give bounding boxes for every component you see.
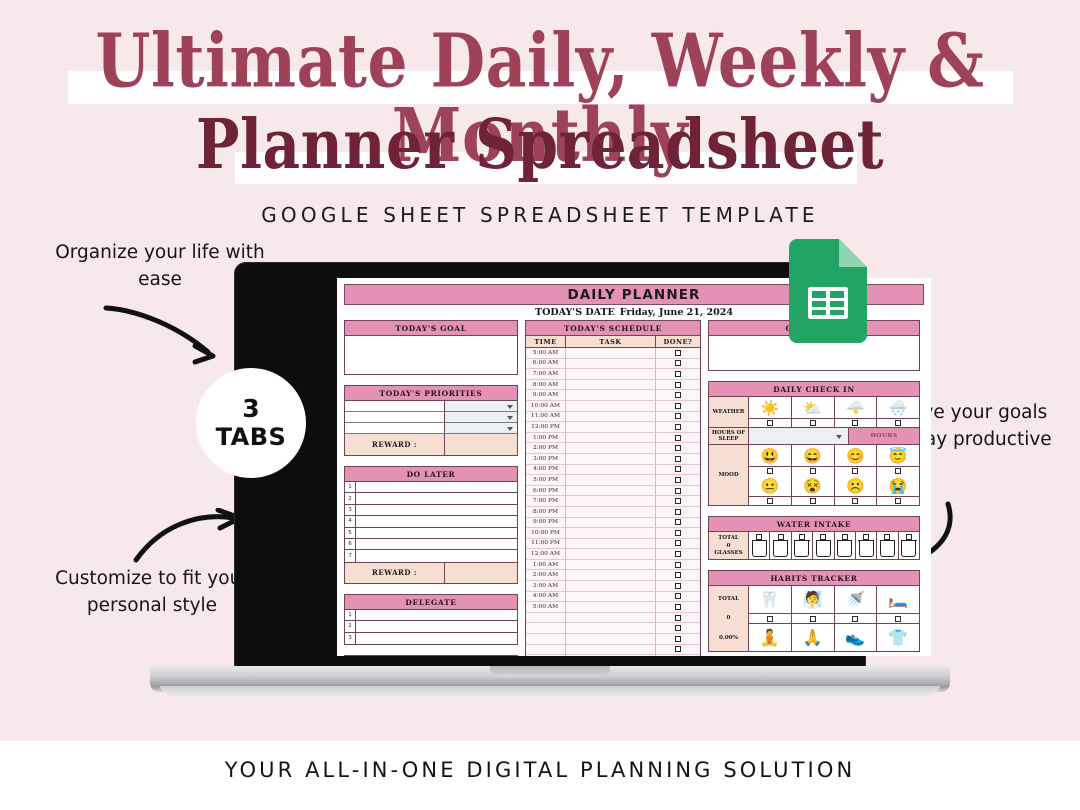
row-input[interactable] <box>356 528 517 538</box>
checkbox[interactable] <box>675 615 681 621</box>
table-row[interactable]: 1 <box>345 482 517 493</box>
laundry-icon: 👕 <box>888 628 908 647</box>
glass-icon <box>880 541 895 557</box>
checkbox[interactable] <box>810 468 816 474</box>
weather-label: WEATHER <box>709 397 749 427</box>
schedule-time: 2:00 PM <box>526 443 566 453</box>
schedule-time: 5:00 PM <box>526 475 566 485</box>
schedule-task-input[interactable] <box>566 613 656 623</box>
priority-dropdown[interactable] <box>445 412 517 422</box>
neutral-face-icon: 😐 <box>749 475 791 496</box>
row-input[interactable] <box>356 493 517 503</box>
schedule-task-input[interactable] <box>566 528 656 538</box>
water-total-caption: TOTAL <box>718 535 738 541</box>
habit-checkbox-wrap[interactable] <box>792 614 835 623</box>
schedule-task-input[interactable] <box>566 634 656 644</box>
mood-checkbox-wrap[interactable] <box>749 496 791 505</box>
habit-icon-cell[interactable]: 🙏 <box>792 624 835 651</box>
schedule-task-input[interactable] <box>566 549 656 559</box>
mood-checkbox-wrap[interactable] <box>792 496 834 505</box>
skincare-icon: 🧖 <box>803 590 823 609</box>
habits-total-label: TOTAL 0 0.00% <box>709 586 749 651</box>
card-title-todays-schedule: TODAY'S SCHEDULE <box>526 321 700 336</box>
card-title-habits-tracker: HABITS TRACKER <box>709 571 919 586</box>
weather-option[interactable]: 🌨️ <box>877 397 919 427</box>
schedule-row[interactable]: 5:00 AM <box>526 348 700 359</box>
schedule-row[interactable]: 7:00 PM <box>526 496 700 507</box>
prayer-icon: 🙏 <box>803 628 823 647</box>
schedule-header-row: TIME TASK DONE? <box>526 336 700 348</box>
schedule-task-input[interactable] <box>566 486 656 496</box>
checkbox[interactable] <box>767 420 773 426</box>
schedule-task-input[interactable] <box>566 581 656 591</box>
water-total-label: TOTAL 0 GLASSES <box>709 532 749 559</box>
schedule-done-cell[interactable] <box>656 369 700 379</box>
shoe-icon: 👟 <box>845 628 865 647</box>
checkbox[interactable] <box>675 509 681 515</box>
priority-row[interactable] <box>345 401 517 412</box>
water-total-value: 0 <box>727 543 731 549</box>
footer-tagline: YOUR ALL-IN-ONE DIGITAL PLANNING SOLUTIO… <box>0 758 1080 782</box>
priority-text-cell[interactable] <box>345 412 445 422</box>
schedule-done-cell[interactable] <box>656 518 700 528</box>
habit-icon-cell[interactable]: 🧖 <box>792 586 835 613</box>
row-number: 3 <box>345 633 356 644</box>
water-glass-cell[interactable] <box>856 532 877 559</box>
schedule-task-input[interactable] <box>566 518 656 528</box>
schedule-row[interactable] <box>526 634 700 645</box>
row-number: 2 <box>345 493 356 503</box>
habit-icon-cell[interactable]: 👟 <box>835 624 878 651</box>
table-row[interactable]: 3 <box>345 505 517 516</box>
reward-input[interactable] <box>445 434 517 455</box>
crying-face-icon: 😭 <box>877 475 919 496</box>
schedule-row[interactable]: 6:00 AM <box>526 359 700 370</box>
schedule-row[interactable]: 11:00 PM <box>526 539 700 550</box>
row-number: 6 <box>345 539 356 549</box>
mood-option[interactable]: 😄 <box>792 445 835 475</box>
checkbox[interactable] <box>675 551 681 557</box>
mood-option[interactable]: 😃 <box>749 445 792 475</box>
habits-total-caption: TOTAL <box>718 596 739 602</box>
mood-checkbox-wrap[interactable] <box>749 466 791 475</box>
table-row[interactable]: 3 <box>345 633 517 644</box>
schedule-row[interactable]: 1:00 AM <box>526 560 700 571</box>
column-right: GRATITUDE DAILY CHECK IN WEATHER ☀️ <box>708 320 920 656</box>
checkbox[interactable] <box>810 498 816 504</box>
schedule-row[interactable]: 3:00 PM <box>526 454 700 465</box>
schedule-done-cell[interactable] <box>656 645 700 655</box>
schedule-task-input[interactable] <box>566 592 656 602</box>
priority-text-cell[interactable] <box>345 401 445 411</box>
checkbox[interactable] <box>895 468 901 474</box>
schedule-row[interactable]: 4:00 AM <box>526 592 700 603</box>
do-later-rows: 1 2 3 4 5 6 7 <box>345 482 517 562</box>
schedule-task-input[interactable] <box>566 348 656 358</box>
schedule-task-input[interactable] <box>566 560 656 570</box>
habits-icon-row-2: 🧘 🙏 👟 👕 <box>749 624 919 651</box>
card-habits-tracker: HABITS TRACKER TOTAL 0 0.00% <box>708 570 920 652</box>
google-sheets-icon <box>789 239 867 343</box>
checkbox[interactable] <box>675 593 681 599</box>
schedule-row[interactable]: 5:00 AM <box>526 602 700 613</box>
schedule-task-input[interactable] <box>566 496 656 506</box>
row-number: 1 <box>345 482 356 492</box>
row-input[interactable] <box>356 550 517 561</box>
schedule-row[interactable]: 3:00 AM <box>526 581 700 592</box>
card-do-later: DO LATER 1 2 3 4 5 6 7 <box>344 466 518 584</box>
schedule-row[interactable] <box>526 623 700 634</box>
schedule-time: 2:00 AM <box>526 570 566 580</box>
schedule-task-input[interactable] <box>566 359 656 369</box>
water-glass-cell[interactable] <box>749 532 770 559</box>
checkbox[interactable] <box>852 616 858 622</box>
schedule-row[interactable]: 2:00 AM <box>526 570 700 581</box>
mood-option[interactable]: 😵 <box>792 475 835 505</box>
checkbox[interactable] <box>675 403 681 409</box>
habit-icon-cell[interactable]: 🚿 <box>835 586 878 613</box>
schedule-task-input[interactable] <box>566 433 656 443</box>
row-input[interactable] <box>356 633 517 644</box>
schedule-time <box>526 655 566 656</box>
schedule-row[interactable]: 9:00 AM <box>526 390 700 401</box>
schedule-done-cell[interactable] <box>656 560 700 570</box>
mood-checkbox-wrap[interactable] <box>792 466 834 475</box>
schedule-time: 12:00 PM <box>526 422 566 432</box>
schedule-done-cell[interactable] <box>656 602 700 612</box>
schedule-time: 4:00 PM <box>526 465 566 475</box>
row-input[interactable] <box>356 539 517 549</box>
schedule-time <box>526 613 566 623</box>
checkbox[interactable] <box>810 420 816 426</box>
priority-row[interactable] <box>345 412 517 423</box>
schedule-done-cell[interactable] <box>656 592 700 602</box>
checkbox[interactable] <box>675 477 681 483</box>
schedule-task-input[interactable] <box>566 465 656 475</box>
schedule-task-input[interactable] <box>566 570 656 580</box>
hours-of-sleep-label: HOURS OF SLEEP <box>709 428 749 444</box>
table-row[interactable]: 1 <box>345 610 517 621</box>
schedule-done-cell[interactable] <box>656 380 700 390</box>
mood-checkbox-wrap[interactable] <box>835 466 877 475</box>
mood-label: MOOD <box>709 445 749 505</box>
schedule-done-cell[interactable] <box>656 465 700 475</box>
checkbox[interactable] <box>810 616 816 622</box>
schedule-task-input[interactable] <box>566 412 656 422</box>
schedule-row[interactable]: 8:00 AM <box>526 380 700 391</box>
schedule-task-input[interactable] <box>566 401 656 411</box>
poster-canvas: Ultimate Daily, Weekly & Monthly Planner… <box>0 0 1080 810</box>
schedule-task-input[interactable] <box>566 454 656 464</box>
schedule-task-input[interactable] <box>566 655 656 656</box>
water-glass-cell[interactable] <box>835 532 856 559</box>
schedule-done-cell[interactable] <box>656 655 700 656</box>
grinning-face-icon: 😃 <box>749 445 791 466</box>
checkbox[interactable] <box>895 420 901 426</box>
weather-cells: ☀️ ⛅ 🌩️ <box>749 397 919 427</box>
weather-checkbox-wrap[interactable] <box>877 418 919 427</box>
card-title-do-later: DO LATER <box>345 467 517 482</box>
tooth-icon: 🦷 <box>760 590 780 609</box>
mood-option[interactable]: 😐 <box>749 475 792 505</box>
schedule-row[interactable]: 2:00 PM <box>526 443 700 454</box>
weather-checkbox-wrap[interactable] <box>749 418 791 427</box>
habits-grid: 🦷 🧖 🚿 🛏️ <box>749 586 919 651</box>
habits-row: TOTAL 0 0.00% 🦷 🧖 🚿 <box>709 586 919 651</box>
checkbox[interactable] <box>675 646 681 652</box>
glass-icon <box>816 541 831 557</box>
weather-option[interactable]: ⛅ <box>792 397 835 427</box>
checkbox[interactable] <box>675 625 681 631</box>
table-row[interactable]: 5 <box>345 528 517 539</box>
schedule-time: 10:00 AM <box>526 401 566 411</box>
partly-cloudy-icon: ⛅ <box>792 397 834 418</box>
schedule-row[interactable]: 6:00 PM <box>526 486 700 497</box>
water-glass-cell[interactable] <box>877 532 898 559</box>
checkbox[interactable] <box>675 562 681 568</box>
schedule-time: 5:00 AM <box>526 602 566 612</box>
schedule-task-input[interactable] <box>566 645 656 655</box>
checkbox[interactable] <box>675 583 681 589</box>
schedule-task-input[interactable] <box>566 623 656 633</box>
checkbox[interactable] <box>675 382 681 388</box>
weather-checkbox-wrap[interactable] <box>835 418 877 427</box>
schedule-done-cell[interactable] <box>656 634 700 644</box>
checkbox[interactable] <box>767 468 773 474</box>
water-glass-cell[interactable] <box>792 532 813 559</box>
hours-unit-label: HOURS <box>849 428 919 444</box>
water-glasses <box>749 532 919 559</box>
habit-icon-cell[interactable]: 🦷 <box>749 586 792 613</box>
row-input[interactable] <box>356 482 517 492</box>
todays-goal-input[interactable] <box>345 336 517 374</box>
tabs-badge-label: TABS <box>216 424 287 452</box>
habits-total-value: 0 <box>727 615 731 621</box>
schedule-task-input[interactable] <box>566 380 656 390</box>
schedule-row[interactable] <box>526 645 700 656</box>
checkbox[interactable] <box>675 360 681 366</box>
schedule-done-cell[interactable] <box>656 359 700 369</box>
mood-row: MOOD 😃 😄 <box>709 445 919 505</box>
schedule-task-input[interactable] <box>566 602 656 612</box>
schedule-time: 7:00 PM <box>526 496 566 506</box>
schedule-row[interactable]: 7:00 AM <box>526 369 700 380</box>
schedule-time: 8:00 AM <box>526 380 566 390</box>
schedule-done-cell[interactable] <box>656 348 700 358</box>
schedule-done-cell[interactable] <box>656 422 700 432</box>
schedule-row[interactable]: 5:00 PM <box>526 475 700 486</box>
schedule-task-input[interactable] <box>566 443 656 453</box>
schedule-task-input[interactable] <box>566 539 656 549</box>
schedule-task-input[interactable] <box>566 390 656 400</box>
table-row[interactable]: 4 <box>345 516 517 527</box>
schedule-done-cell[interactable] <box>656 539 700 549</box>
checkbox[interactable] <box>675 392 681 398</box>
water-glass-cell[interactable] <box>899 532 919 559</box>
weather-row: WEATHER ☀️ ⛅ <box>709 397 919 428</box>
mood-option[interactable]: 😇 <box>877 445 919 475</box>
checkbox[interactable] <box>675 572 681 578</box>
card-todays-priorities: TODAY'S PRIORITIES REWARD : <box>344 385 518 456</box>
table-row[interactable]: 7 <box>345 550 517 561</box>
laptop-base-foot <box>160 686 940 698</box>
habit-checkbox-wrap[interactable] <box>835 614 878 623</box>
schedule-done-cell[interactable] <box>656 401 700 411</box>
dizzy-face-icon: 😵 <box>792 475 834 496</box>
priority-dropdown[interactable] <box>445 423 517 433</box>
mood-option[interactable]: ☹️ <box>835 475 878 505</box>
checkbox[interactable] <box>852 468 858 474</box>
checkbox[interactable] <box>675 350 681 356</box>
checkbox[interactable] <box>675 413 681 419</box>
mood-option[interactable]: 😭 <box>877 475 919 505</box>
schedule-task-input[interactable] <box>566 422 656 432</box>
checkbox[interactable] <box>675 530 681 536</box>
schedule-done-cell[interactable] <box>656 613 700 623</box>
row-number: 2 <box>345 621 356 631</box>
schedule-time <box>526 623 566 633</box>
water-glass-cell[interactable] <box>770 532 791 559</box>
schedule-done-cell[interactable] <box>656 581 700 591</box>
schedule-row[interactable]: 1:00 PM <box>526 433 700 444</box>
schedule-row[interactable]: 12:00 AM <box>526 549 700 560</box>
schedule-done-cell[interactable] <box>656 454 700 464</box>
card-delegate: DELEGATE 1 2 3 <box>344 594 518 645</box>
mood-checkbox-wrap[interactable] <box>835 496 877 505</box>
schedule-done-cell[interactable] <box>656 486 700 496</box>
checkbox[interactable] <box>675 424 681 430</box>
schedule-done-cell[interactable] <box>656 433 700 443</box>
weather-option[interactable]: ☀️ <box>749 397 792 427</box>
schedule-time: 4:00 AM <box>526 592 566 602</box>
table-row[interactable]: 2 <box>345 621 517 632</box>
schedule-task-input[interactable] <box>566 507 656 517</box>
water-glass-cell[interactable] <box>813 532 834 559</box>
schedule-row[interactable]: 12:00 PM <box>526 422 700 433</box>
schedule-row[interactable]: 10:00 AM <box>526 401 700 412</box>
schedule-done-cell[interactable] <box>656 549 700 559</box>
habit-icon-cell[interactable]: 🛏️ <box>877 586 919 613</box>
card-todays-goal: TODAY'S GOAL <box>344 320 518 375</box>
schedule-row[interactable]: 9:00 PM <box>526 518 700 529</box>
schedule-done-cell[interactable] <box>656 390 700 400</box>
schedule-task-input[interactable] <box>566 369 656 379</box>
snow-icon: 🌨️ <box>877 397 919 418</box>
row-input[interactable] <box>356 610 517 620</box>
checkbox[interactable] <box>895 616 901 622</box>
glass-icon <box>752 541 767 557</box>
table-row[interactable]: 2 <box>345 493 517 504</box>
tabs-badge-number: 3 <box>242 395 259 424</box>
schedule-done-cell[interactable] <box>656 496 700 506</box>
row-input[interactable] <box>356 516 517 526</box>
schedule-done-cell[interactable] <box>656 507 700 517</box>
row-input[interactable] <box>356 621 517 631</box>
habit-checkbox-wrap[interactable] <box>749 614 792 623</box>
schedule-row[interactable]: 11:00 AM <box>526 412 700 423</box>
schedule-row[interactable] <box>526 613 700 624</box>
schedule-done-cell[interactable] <box>656 475 700 485</box>
schedule-time: 9:00 PM <box>526 518 566 528</box>
checkbox[interactable] <box>675 604 681 610</box>
row-number: 7 <box>345 550 356 561</box>
row-input[interactable] <box>356 505 517 515</box>
schedule-row[interactable]: 4:00 PM <box>526 465 700 476</box>
schedule-col-done: DONE? <box>656 336 700 347</box>
checkbox[interactable] <box>675 445 681 451</box>
priority-text-cell[interactable] <box>345 423 445 433</box>
mood-cells-row2: 😐 😵 ☹️ <box>749 475 919 505</box>
habits-icon-row-1: 🦷 🧖 🚿 🛏️ <box>749 586 919 613</box>
checkbox[interactable] <box>675 519 681 525</box>
checkbox[interactable] <box>675 488 681 494</box>
schedule-time: 9:00 AM <box>526 390 566 400</box>
checkbox[interactable] <box>675 540 681 546</box>
habit-icon-cell[interactable]: 👕 <box>877 624 919 651</box>
schedule-done-cell[interactable] <box>656 412 700 422</box>
card-title-daily-check-in: DAILY CHECK IN <box>709 382 919 397</box>
schedule-task-input[interactable] <box>566 475 656 485</box>
checkbox[interactable] <box>675 456 681 462</box>
table-row[interactable]: 6 <box>345 539 517 550</box>
schedule-row[interactable]: 8:00 PM <box>526 507 700 518</box>
weather-checkbox-wrap[interactable] <box>792 418 834 427</box>
schedule-done-cell[interactable] <box>656 443 700 453</box>
checkbox[interactable] <box>675 498 681 504</box>
card-todays-schedule: TODAY'S SCHEDULE TIME TASK DONE? 5:00 AM… <box>525 320 701 656</box>
frowning-face-icon: ☹️ <box>835 475 877 496</box>
hours-of-sleep-dropdown[interactable] <box>749 428 849 444</box>
schedule-row[interactable] <box>526 655 700 656</box>
schedule-done-cell[interactable] <box>656 623 700 633</box>
checkbox[interactable] <box>675 371 681 377</box>
priority-dropdown[interactable] <box>445 401 517 411</box>
card-water-intake: WATER INTAKE TOTAL 0 GLASSES <box>708 516 920 560</box>
glass-icon <box>859 541 874 557</box>
page-subtitle: GOOGLE SHEET SPREADSHEET TEMPLATE <box>0 203 1080 227</box>
reward-label: REWARD : <box>345 434 445 455</box>
checkbox[interactable] <box>767 616 773 622</box>
mood-option[interactable]: 😊 <box>835 445 878 475</box>
checkbox[interactable] <box>675 466 681 472</box>
checkbox[interactable] <box>895 498 901 504</box>
checkbox[interactable] <box>852 498 858 504</box>
schedule-col-time: TIME <box>526 336 566 347</box>
schedule-time: 1:00 AM <box>526 560 566 570</box>
schedule-time: 3:00 PM <box>526 454 566 464</box>
mood-checkbox-wrap[interactable] <box>877 466 919 475</box>
schedule-done-cell[interactable] <box>656 528 700 538</box>
water-unit-label: GLASSES <box>714 550 742 556</box>
angel-face-icon: 😇 <box>877 445 919 466</box>
priority-row[interactable] <box>345 423 517 434</box>
checkbox[interactable] <box>852 420 858 426</box>
mood-checkbox-wrap[interactable] <box>877 496 919 505</box>
reward-input[interactable] <box>445 563 517 583</box>
checkbox[interactable] <box>767 498 773 504</box>
schedule-time: 11:00 PM <box>526 539 566 549</box>
glass-icon <box>901 541 916 557</box>
schedule-time: 6:00 PM <box>526 486 566 496</box>
checkbox[interactable] <box>675 435 681 441</box>
schedule-done-cell[interactable] <box>656 570 700 580</box>
card-title-todays-priorities: TODAY'S PRIORITIES <box>345 386 517 401</box>
weather-option[interactable]: 🌩️ <box>835 397 878 427</box>
habit-icon-cell[interactable]: 🧘 <box>749 624 792 651</box>
habit-checkbox-wrap[interactable] <box>877 614 919 623</box>
checkbox[interactable] <box>675 636 681 642</box>
schedule-row[interactable]: 10:00 PM <box>526 528 700 539</box>
